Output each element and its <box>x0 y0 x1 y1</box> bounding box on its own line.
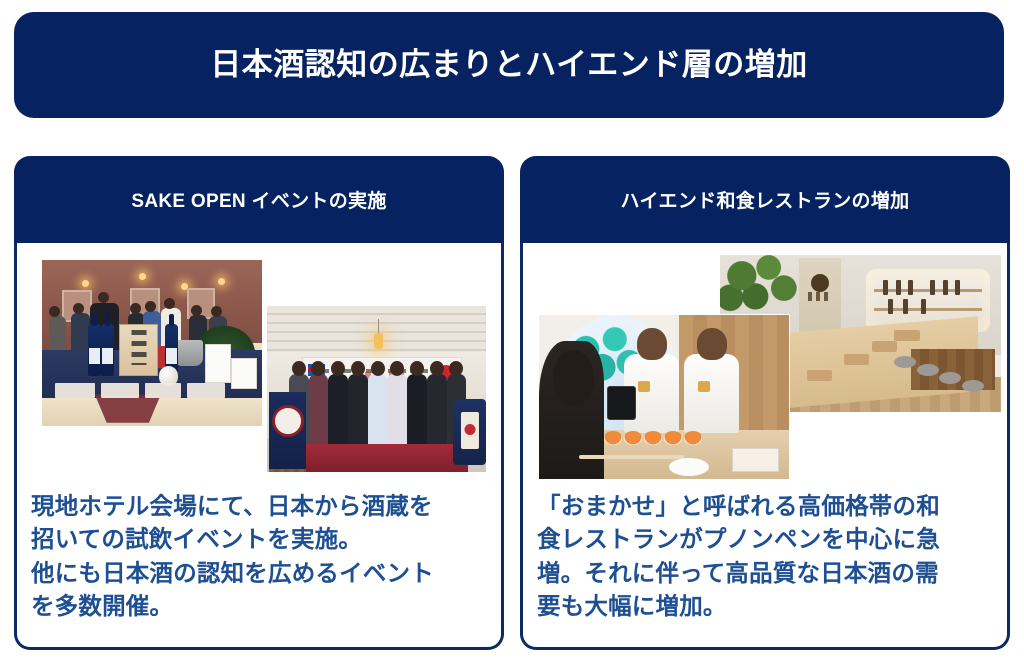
foliage <box>720 255 804 324</box>
sushi-chef <box>684 354 739 433</box>
tasting-card-stand <box>205 344 231 383</box>
ice-bucket <box>174 340 203 367</box>
photo-area-left <box>17 240 501 488</box>
attendee <box>407 374 427 454</box>
sushi-piece <box>684 431 702 444</box>
counter-stool <box>939 372 961 384</box>
card-body-text-right: 「おまかせ」と呼ばれる高価格帯の和 食レストランがプノンペンを中心に急 増。それ… <box>537 490 995 623</box>
restaurant-logo-icon <box>811 274 829 292</box>
smartphone-icon[interactable] <box>607 386 637 421</box>
card-header-title-right: ハイエンド和食レストランの増加 <box>621 186 910 213</box>
tasting-card-stand <box>231 358 257 390</box>
place-setting <box>844 354 869 365</box>
card-header-title-left: SAKE OPEN イベントの実施 <box>131 186 386 213</box>
tasting-sheet <box>187 383 224 398</box>
tasting-sheet <box>145 383 180 398</box>
slide-root: 日本酒認知の広まりとハイエンド層の増加 SAKE OPEN イベントの実施 <box>0 0 1024 662</box>
card-sake-open-event: SAKE OPEN イベントの実施 <box>14 156 504 650</box>
barrel-emblem-icon <box>464 424 475 435</box>
sushi-chefs-photo <box>539 315 789 479</box>
bottle <box>888 299 893 314</box>
attendee <box>368 374 388 454</box>
card-header-right: ハイエンド和食レストランの増加 <box>520 156 1010 243</box>
card-body-right: 「おまかせ」と呼ばれる高価格帯の和 食レストランがプノンペンを中心に急 増。それ… <box>520 240 1010 650</box>
attendee <box>387 374 407 454</box>
sake-gift-box <box>119 324 158 376</box>
place-setting <box>894 330 919 341</box>
sushi-piece <box>644 431 662 444</box>
bottle <box>883 280 888 295</box>
card-header-left: SAKE OPEN イベントの実施 <box>14 156 504 243</box>
red-carpet <box>285 444 469 472</box>
attendee <box>348 374 368 454</box>
bar-shelf <box>874 289 983 292</box>
bottle <box>943 280 948 295</box>
ceiling-lamp-icon <box>82 280 89 287</box>
sake-bottle <box>88 324 101 376</box>
place-setting <box>872 341 897 352</box>
tasting-sheet <box>101 383 138 398</box>
attendee <box>427 374 447 454</box>
photo-area-right <box>523 240 1007 488</box>
sushi-piece <box>624 431 642 444</box>
bottle <box>896 280 901 295</box>
sushi-piece <box>664 431 682 444</box>
tasting-sheet <box>55 383 95 398</box>
card-high-end-japanese-restaurants: ハイエンド和食レストランの増加 <box>520 156 1010 650</box>
page-title: 日本酒認知の広まりとハイエンド層の増加 <box>210 48 808 82</box>
bottle <box>955 280 960 295</box>
sushi-piece <box>604 431 622 444</box>
bottle <box>908 280 913 295</box>
attendee <box>49 316 67 353</box>
sake-barrel <box>453 399 486 465</box>
card-body-text-left: 現地ホテル会場にて、日本から酒蔵を 招いての試飲イベントを実施。 他にも日本酒の… <box>31 490 489 623</box>
serving-plate <box>669 458 709 476</box>
chopsticks <box>579 455 684 459</box>
attendee <box>328 374 348 454</box>
event-group-photo <box>267 306 486 472</box>
attendee <box>309 374 329 454</box>
prep-tray <box>732 448 779 473</box>
bottle <box>930 280 935 295</box>
counter-stool <box>917 364 939 376</box>
sake-bottle <box>101 324 114 376</box>
bottle <box>921 299 926 314</box>
restaurant-logo-text <box>808 292 832 301</box>
bottle <box>903 299 908 314</box>
sake-tasting-hall-photo <box>42 260 262 426</box>
card-body-left: 現地ホテル会場にて、日本から酒蔵を 招いての試飲イベントを実施。 他にも日本酒の… <box>14 240 504 650</box>
speaking-podium <box>269 392 306 468</box>
slide-title-banner: 日本酒認知の広まりとハイエンド層の増加 <box>14 12 1004 118</box>
hotel-seal-icon <box>272 405 304 437</box>
pendant-light-icon <box>374 333 383 349</box>
place-setting <box>807 370 832 381</box>
counter-stool <box>962 380 984 392</box>
